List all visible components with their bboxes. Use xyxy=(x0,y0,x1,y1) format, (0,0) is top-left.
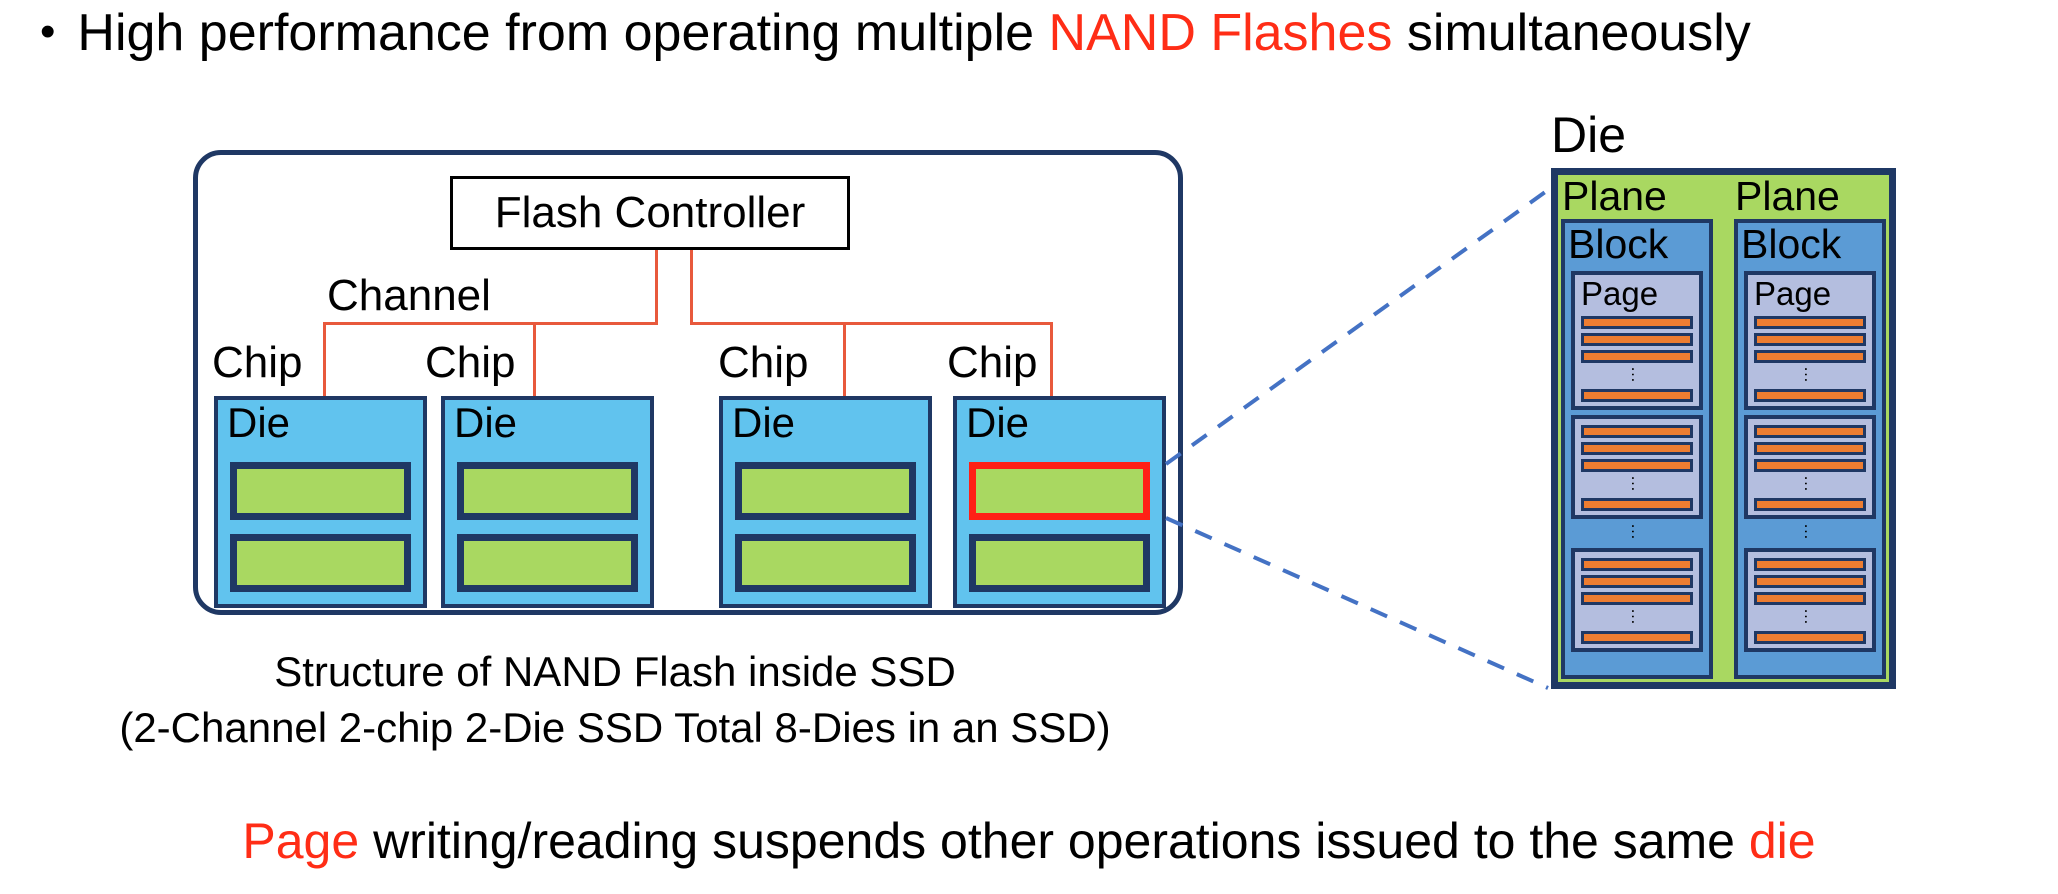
cell-bar xyxy=(1754,389,1866,402)
cell-bar xyxy=(1581,592,1693,605)
plane-rect-1b xyxy=(230,534,411,592)
die-box-3: Die xyxy=(719,396,932,608)
page-box-1-3: … xyxy=(1571,548,1703,652)
wire-chip1-drop xyxy=(323,322,326,396)
vertical-ellipsis-icon: … xyxy=(1803,366,1817,383)
die-box-4: Die xyxy=(953,396,1166,608)
vertical-ellipsis-icon: … xyxy=(1630,608,1644,625)
page-box-2-3: … xyxy=(1744,548,1876,652)
plane-rect-1a xyxy=(230,462,411,520)
wire-controller-drop-left xyxy=(655,250,658,322)
chip-label-3: Chip xyxy=(718,338,809,388)
wire-chip2-drop xyxy=(533,322,536,396)
block-box-1: Block Page … … … xyxy=(1561,219,1713,679)
vertical-ellipsis-icon: … xyxy=(1803,608,1817,625)
cell-bar xyxy=(1581,425,1693,438)
wire-controller-drop-right xyxy=(690,250,693,322)
page-box-2-2: … xyxy=(1744,415,1876,519)
vertical-ellipsis-icon: … xyxy=(1630,366,1644,383)
plane-label-1: Plane xyxy=(1558,175,1716,219)
cell-bar xyxy=(1754,631,1866,644)
connector-line-top xyxy=(1166,190,1548,464)
cell-bar xyxy=(1754,442,1866,455)
cell-bar xyxy=(1754,592,1866,605)
ssd-caption-line1: Structure of NAND Flash inside SSD xyxy=(0,644,1230,699)
channel-label: Channel xyxy=(327,271,491,321)
cell-bar xyxy=(1581,631,1693,644)
wire-chip4-drop xyxy=(1050,322,1053,396)
block-label-2: Block xyxy=(1738,223,1841,266)
block-box-2: Block Page … … … xyxy=(1734,219,1886,679)
footer-red-die: die xyxy=(1749,813,1816,869)
vertical-ellipsis-icon: … xyxy=(1803,523,1817,540)
cell-bar xyxy=(1754,316,1866,329)
cell-bar xyxy=(1581,575,1693,588)
page-box-1-1: Page … xyxy=(1571,271,1703,410)
plane-rect-4b xyxy=(969,534,1150,592)
cell-bar xyxy=(1754,459,1866,472)
flash-controller-label: Flash Controller xyxy=(495,188,806,238)
cell-bar xyxy=(1754,425,1866,438)
cell-bar xyxy=(1581,350,1693,363)
cell-bar xyxy=(1581,558,1693,571)
plane-rect-2a xyxy=(457,462,638,520)
headline-part2: simultaneously xyxy=(1392,4,1750,62)
die-label-4: Die xyxy=(966,401,1029,445)
cell-bar xyxy=(1754,333,1866,346)
die-label-2: Die xyxy=(454,401,517,445)
cell-bar xyxy=(1581,389,1693,402)
wire-channel-bus-left xyxy=(323,322,658,325)
plane-rect-2b xyxy=(457,534,638,592)
chip-label-1: Chip xyxy=(212,338,303,388)
plane-rect-3a xyxy=(735,462,916,520)
die-label-1: Die xyxy=(227,401,290,445)
die-label-3: Die xyxy=(732,401,795,445)
cell-bar xyxy=(1581,333,1693,346)
slide-canvas: • High performance from operating multip… xyxy=(0,0,2058,894)
footer-red-page: Page xyxy=(242,813,359,869)
flash-controller-box: Flash Controller xyxy=(450,176,850,250)
footer-sentence: Page writing/reading suspends other oper… xyxy=(0,812,2058,870)
die-detail-plane-2: Plane Block Page … … xyxy=(1731,175,1889,682)
page-box-1-2: … xyxy=(1571,415,1703,519)
chip-label-4: Chip xyxy=(947,338,1038,388)
chip-label-2: Chip xyxy=(425,338,516,388)
cell-bar xyxy=(1581,316,1693,329)
block-label-1: Block xyxy=(1565,223,1668,266)
plane-label-2: Plane xyxy=(1731,175,1889,219)
wire-chip3-drop xyxy=(843,322,846,396)
die-box-2: Die xyxy=(441,396,654,608)
die-detail-box: Plane Block Page … … xyxy=(1551,168,1896,689)
plane-rect-4a-highlighted xyxy=(969,462,1150,520)
die-box-1: Die xyxy=(214,396,427,608)
cell-bar xyxy=(1754,350,1866,363)
page-label-1-1: Page xyxy=(1579,277,1658,312)
headline-text: High performance from operating multiple… xyxy=(77,4,1750,64)
cell-bar xyxy=(1581,459,1693,472)
cell-bar xyxy=(1581,498,1693,511)
cell-bar xyxy=(1754,498,1866,511)
footer-mid-text: writing/reading suspends other operation… xyxy=(359,813,1749,869)
page-label-2-1: Page xyxy=(1752,277,1831,312)
cell-bar xyxy=(1754,575,1866,588)
page-box-2-1: Page … xyxy=(1744,271,1876,410)
bullet-icon: • xyxy=(40,4,55,59)
plane-rect-3b xyxy=(735,534,916,592)
die-detail-plane-1: Plane Block Page … … xyxy=(1558,175,1716,682)
vertical-ellipsis-icon: … xyxy=(1630,523,1644,540)
die-detail-title: Die xyxy=(1551,110,1626,160)
vertical-ellipsis-icon: … xyxy=(1803,475,1817,492)
headline-highlight: NAND Flashes xyxy=(1049,4,1393,62)
wire-channel-bus-right xyxy=(690,322,1053,325)
headline-bullet-item: • High performance from operating multip… xyxy=(40,4,2020,64)
ssd-caption-line2: (2-Channel 2-chip 2-Die SSD Total 8-Dies… xyxy=(0,700,1230,755)
vertical-ellipsis-icon: … xyxy=(1630,475,1644,492)
cell-bar xyxy=(1581,442,1693,455)
cell-bar xyxy=(1754,558,1866,571)
headline-part1: High performance from operating multiple xyxy=(77,4,1048,62)
